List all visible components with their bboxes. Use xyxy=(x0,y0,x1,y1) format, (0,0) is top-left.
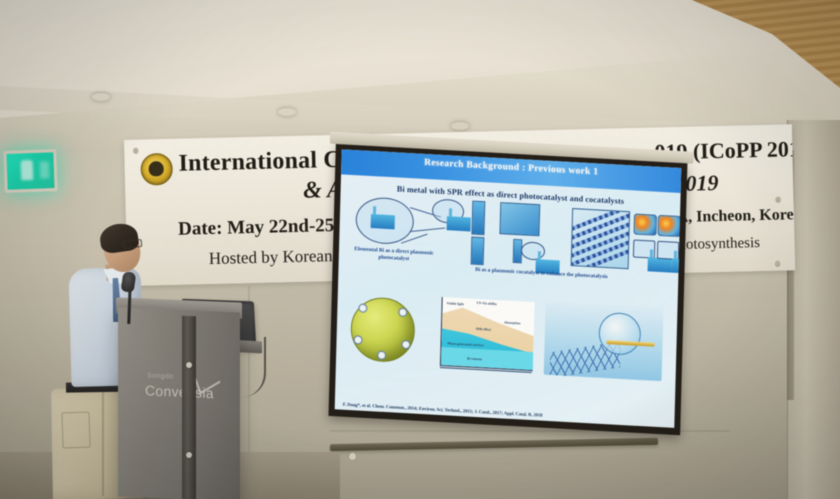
slide-caption-left: Elemental Bi as a direct plasmonic photo… xyxy=(351,246,437,265)
slide-bar-graphic xyxy=(471,201,485,236)
slide-orbital-image xyxy=(657,215,681,237)
projection-screen: Research Background : Previous work 1 Bi… xyxy=(328,138,687,442)
wall-socket xyxy=(348,452,357,461)
podium-post xyxy=(182,316,196,499)
conference-seal-logo xyxy=(140,153,173,186)
chart-region-base xyxy=(441,347,533,370)
speaker-pocket xyxy=(61,412,90,449)
podium-screw xyxy=(186,452,192,458)
screen-frame: Research Background : Previous work 1 Bi… xyxy=(328,144,687,435)
slide-bar-graphic xyxy=(471,237,485,266)
slide-particle xyxy=(521,241,545,260)
presentation-photo: International Confe & Annu Date: May 22n… xyxy=(0,0,840,499)
slide-band-chart: Visible light UV-Vis ability SPR effect … xyxy=(440,297,535,371)
slide-photocatalyst-sphere xyxy=(350,296,416,363)
slide-orbital-image xyxy=(633,213,657,235)
banner-pin xyxy=(776,197,781,202)
ceiling-downlight xyxy=(278,108,296,116)
venue-logo-top: Songdo xyxy=(147,372,174,380)
banner-pin xyxy=(775,261,780,266)
slide-atom-diagram xyxy=(657,241,679,260)
chart-label-right: Absorption xyxy=(504,320,520,325)
slide-layered-crystal xyxy=(571,208,631,269)
slide-reaction-scene xyxy=(544,301,664,381)
chart-label-spr: SPR effect xyxy=(476,327,491,332)
slide-mechanism-ellipse-small xyxy=(432,198,465,224)
venue-logo-bottom: Convensia xyxy=(145,382,214,401)
ceiling-downlight xyxy=(451,122,469,130)
wall-column xyxy=(787,120,840,499)
chart-label-top-left: Visible light xyxy=(447,301,464,306)
banner-pin xyxy=(133,148,138,153)
projected-slide: Research Background : Previous work 1 Bi… xyxy=(335,149,682,428)
slide-mechanism-ellipse xyxy=(355,196,414,245)
slide-arrow xyxy=(409,227,445,232)
podium-screw xyxy=(186,362,192,368)
slide-atom-diagram xyxy=(633,239,655,258)
chart-label-top-mid: UV-Vis ability xyxy=(477,301,498,306)
exit-sign-icon xyxy=(3,149,57,193)
banner-host-line: Hosted by Korean S xyxy=(209,246,347,269)
chart-label-bottom: Bi content xyxy=(467,356,482,361)
slide-reference: F. Dong*, et al. Chem. Commun., 2014; En… xyxy=(343,402,673,425)
speaker-trouser-crease xyxy=(102,392,104,496)
ceiling-downlight xyxy=(92,93,110,101)
slide-sheet-graphic xyxy=(499,202,540,236)
